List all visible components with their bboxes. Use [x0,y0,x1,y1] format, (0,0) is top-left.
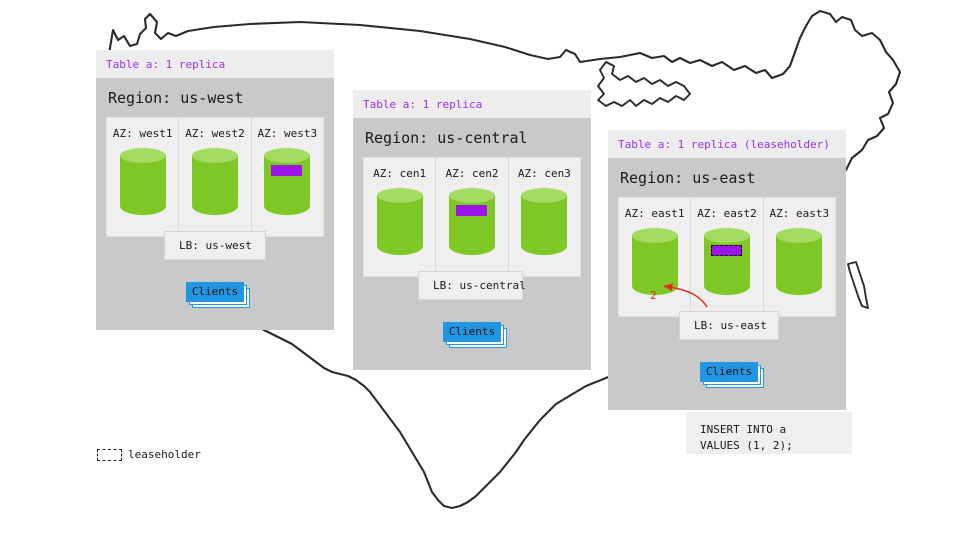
cylinder-top [632,228,678,243]
node-cylinder-cen3[interactable] [521,188,567,262]
cylinder-body [776,235,822,295]
clients-button-label[interactable]: Clients [186,282,244,302]
replica-chip-west3 [271,165,302,176]
clients-button-label[interactable]: Clients [700,362,758,382]
node-cylinder-east3[interactable] [776,228,822,302]
cylinder-top [377,188,423,203]
sql-statement-box: INSERT INTO a VALUES (1, 2); [686,412,852,454]
cylinder-top [264,148,310,163]
replica-chip-cen2 [456,205,487,216]
load-balancer-us-west[interactable]: LB: us-west [164,231,266,260]
legend-label: leaseholder [128,448,201,461]
az-cell-east2[interactable]: AZ: east2 [691,198,763,316]
region-label-us-east: Region: us-east [608,158,846,197]
panel-title-us-west: Table a: 1 replica [96,50,334,78]
clients-button-us-central[interactable]: Clients [443,322,501,342]
az-cell-cen1[interactable]: AZ: cen1 [364,158,436,276]
cylinder-body [120,155,166,215]
cylinder-top [192,148,238,163]
great-lakes-path [598,62,690,106]
clients-button-label[interactable]: Clients [443,322,501,342]
az-cell-west1[interactable]: AZ: west1 [107,118,179,236]
panel-title-us-central: Table a: 1 replica [353,90,591,118]
az-label-east2: AZ: east2 [691,207,762,220]
cylinder-top [449,188,495,203]
node-cylinder-west2[interactable] [192,148,238,222]
load-balancer-us-east[interactable]: LB: us-east [679,311,779,340]
az-cell-cen2[interactable]: AZ: cen2 [436,158,508,276]
az-cell-west2[interactable]: AZ: west2 [179,118,251,236]
az-label-west2: AZ: west2 [179,127,250,140]
panel-title-us-east: Table a: 1 replica (leaseholder) [608,130,846,158]
cylinder-top [776,228,822,243]
node-cylinder-east2[interactable] [704,228,750,302]
cylinder-body [449,195,495,255]
cylinder-body [632,235,678,295]
region-label-us-west: Region: us-west [96,78,334,117]
region-label-us-central: Region: us-central [353,118,591,157]
cylinder-body [521,195,567,255]
arrow-step-number: 2 [650,289,657,302]
node-cylinder-west3[interactable] [264,148,310,222]
clients-button-us-east[interactable]: Clients [700,362,758,382]
load-balancer-us-central[interactable]: LB: us-central [418,271,523,300]
az-label-cen1: AZ: cen1 [364,167,435,180]
clients-button-us-west[interactable]: Clients [186,282,244,302]
az-label-west1: AZ: west1 [107,127,178,140]
node-cylinder-west1[interactable] [120,148,166,222]
az-cell-cen3[interactable]: AZ: cen3 [509,158,580,276]
leaseholder-replica-chip-east2 [711,245,742,256]
cylinder-body [377,195,423,255]
cylinder-body [264,155,310,215]
cylinder-body [704,235,750,295]
az-cell-east3[interactable]: AZ: east3 [764,198,835,316]
cylinder-top [120,148,166,163]
cylinder-body [192,155,238,215]
node-cylinder-cen2[interactable] [449,188,495,262]
az-strip-us-central: AZ: cen1 AZ: cen2 AZ: cen3 [363,157,581,277]
az-cell-west3[interactable]: AZ: west3 [252,118,323,236]
az-label-cen3: AZ: cen3 [509,167,580,180]
cylinder-top [704,228,750,243]
florida-tip-path [848,262,868,308]
cylinder-top [521,188,567,203]
legend: leaseholder [97,448,201,461]
az-label-east1: AZ: east1 [619,207,690,220]
az-label-west3: AZ: west3 [252,127,323,140]
az-label-east3: AZ: east3 [764,207,835,220]
az-strip-us-west: AZ: west1 AZ: west2 AZ: west3 [106,117,324,237]
leaseholder-swatch-icon [97,449,122,461]
az-label-cen2: AZ: cen2 [436,167,507,180]
node-cylinder-cen1[interactable] [377,188,423,262]
